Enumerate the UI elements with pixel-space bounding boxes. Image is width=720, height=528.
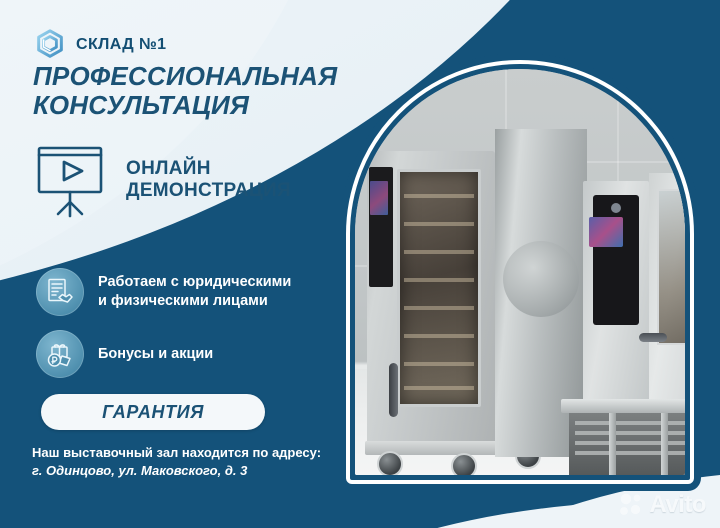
photo-caster bbox=[451, 453, 477, 475]
guarantee-badge[interactable]: ГАРАНТИЯ bbox=[41, 394, 265, 430]
feature-0-line-1: Работаем с юридическими bbox=[98, 273, 291, 292]
feature-1-line-1: Бонусы и акции bbox=[98, 345, 213, 364]
photo-oven-glass-door bbox=[657, 189, 685, 345]
photo-oven-control-panel bbox=[593, 195, 639, 325]
photo-oven-left bbox=[367, 151, 495, 451]
brand-name: СКЛАД №1 bbox=[76, 36, 166, 54]
address-line-1: Наш выставочный зал находится по адресу: bbox=[32, 444, 348, 462]
online-demo-block: ОНЛАЙН ДЕМОНСТРАЦИЯ bbox=[30, 140, 291, 220]
page-title: ПРОФЕССИОНАЛЬНАЯ КОНСУЛЬТАЦИЯ bbox=[33, 62, 333, 120]
photo-oven-glass-door bbox=[397, 169, 481, 407]
online-demo-label: ОНЛАЙН ДЕМОНСТРАЦИЯ bbox=[126, 158, 291, 202]
promo-banner: СКЛАД №1 ПРОФЕССИОНАЛЬНАЯ КОНСУЛЬТАЦИЯ О… bbox=[0, 0, 720, 528]
avito-label: Avito bbox=[649, 491, 706, 519]
address-line-2: г. Одинцово, ул. Маковского, д. 3 bbox=[32, 462, 348, 480]
demo-line-2: ДЕМОНСТРАЦИЯ bbox=[126, 180, 291, 202]
photo-oven-brand-mark bbox=[611, 203, 621, 213]
headline-line-2: КОНСУЛЬТАЦИЯ bbox=[33, 91, 333, 120]
document-handshake-icon bbox=[36, 268, 84, 316]
avito-dots-icon bbox=[618, 492, 644, 518]
brand-logo[interactable]: СКЛАД №1 bbox=[33, 28, 166, 62]
photo-oven-screen bbox=[370, 181, 388, 215]
photo-prep-table-shelf bbox=[569, 413, 685, 475]
presentation-screen-play-icon bbox=[30, 140, 112, 220]
headline-line-1: ПРОФЕССИОНАЛЬНАЯ bbox=[33, 62, 333, 91]
photo-oven-far-right bbox=[649, 173, 685, 431]
photo-drum bbox=[503, 241, 579, 317]
feature-list: Работаем с юридическими и физическими ли… bbox=[36, 268, 336, 392]
feature-0-line-2: и физическими лицами bbox=[98, 292, 291, 311]
photo-oven-handle bbox=[639, 333, 667, 342]
list-item: Бонусы и акции bbox=[36, 330, 336, 378]
feature-label: Бонусы и акции bbox=[98, 345, 213, 364]
list-item: Работаем с юридическими и физическими ли… bbox=[36, 268, 336, 316]
photo-oven-touchscreen bbox=[589, 217, 623, 247]
photo-caster bbox=[377, 451, 403, 475]
demo-line-1: ОНЛАЙН bbox=[126, 158, 291, 180]
photo-oven-right bbox=[583, 181, 649, 433]
photo-prep-table bbox=[561, 399, 685, 413]
photo-oven-handle bbox=[389, 363, 398, 417]
photo-image bbox=[355, 69, 685, 475]
feature-label: Работаем с юридическими и физическими ли… bbox=[98, 273, 291, 310]
hex-spiral-logo-icon bbox=[33, 28, 67, 62]
gift-ruble-discount-icon bbox=[36, 330, 84, 378]
guarantee-label: ГАРАНТИЯ bbox=[102, 402, 204, 423]
equipment-photo bbox=[346, 60, 694, 484]
showroom-address: Наш выставочный зал находится по адресу:… bbox=[32, 444, 348, 479]
avito-watermark: Avito bbox=[618, 491, 706, 519]
